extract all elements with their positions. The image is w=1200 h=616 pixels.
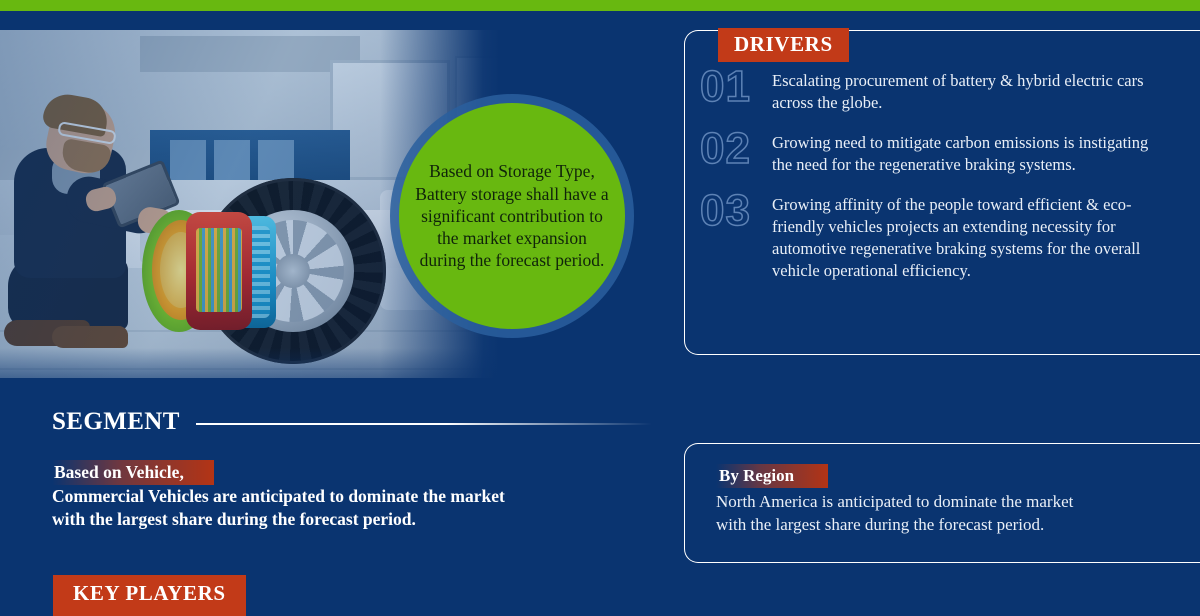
segment-divider [196,423,652,425]
segment-line-2: with the largest share during the foreca… [52,508,652,531]
driver-number: 03 [700,190,772,232]
region-content: By Region North America is anticipated t… [716,464,1186,537]
segment-title: SEGMENT [52,408,180,436]
region-line-1: North America is anticipated to dominate… [716,491,1186,514]
photo-bottom-fade [0,348,500,378]
driver-item: 02 Growing need to mitigate carbon emiss… [700,128,1170,176]
top-accent-bar [0,0,1200,11]
segment-body: Based on Vehicle, Commercial Vehicles ar… [52,460,652,531]
region-line-2: with the largest share during the foreca… [716,514,1186,537]
region-label: By Region [716,464,828,488]
segment-header: SEGMENT [52,408,652,436]
driver-text: Escalating procurement of battery & hybr… [772,66,1170,114]
storage-type-callout: Based on Storage Type, Battery storage s… [399,103,625,329]
callout-text: Based on Storage Type, Battery storage s… [399,160,625,271]
driver-item: 03 Growing affinity of the people toward… [700,190,1170,282]
driver-number: 02 [700,128,772,170]
segment-line-1: Commercial Vehicles are anticipated to d… [52,485,652,508]
driver-text: Growing need to mitigate carbon emission… [772,128,1170,176]
driver-item: 01 Escalating procurement of battery & h… [700,66,1170,114]
driver-number: 01 [700,66,772,108]
key-players-badge: KEY PLAYERS [53,575,246,616]
drivers-badge: DRIVERS [718,28,849,62]
drivers-list: 01 Escalating procurement of battery & h… [700,66,1170,296]
driver-text: Growing affinity of the people toward ef… [772,190,1170,282]
segment-label: Based on Vehicle, [52,460,214,485]
